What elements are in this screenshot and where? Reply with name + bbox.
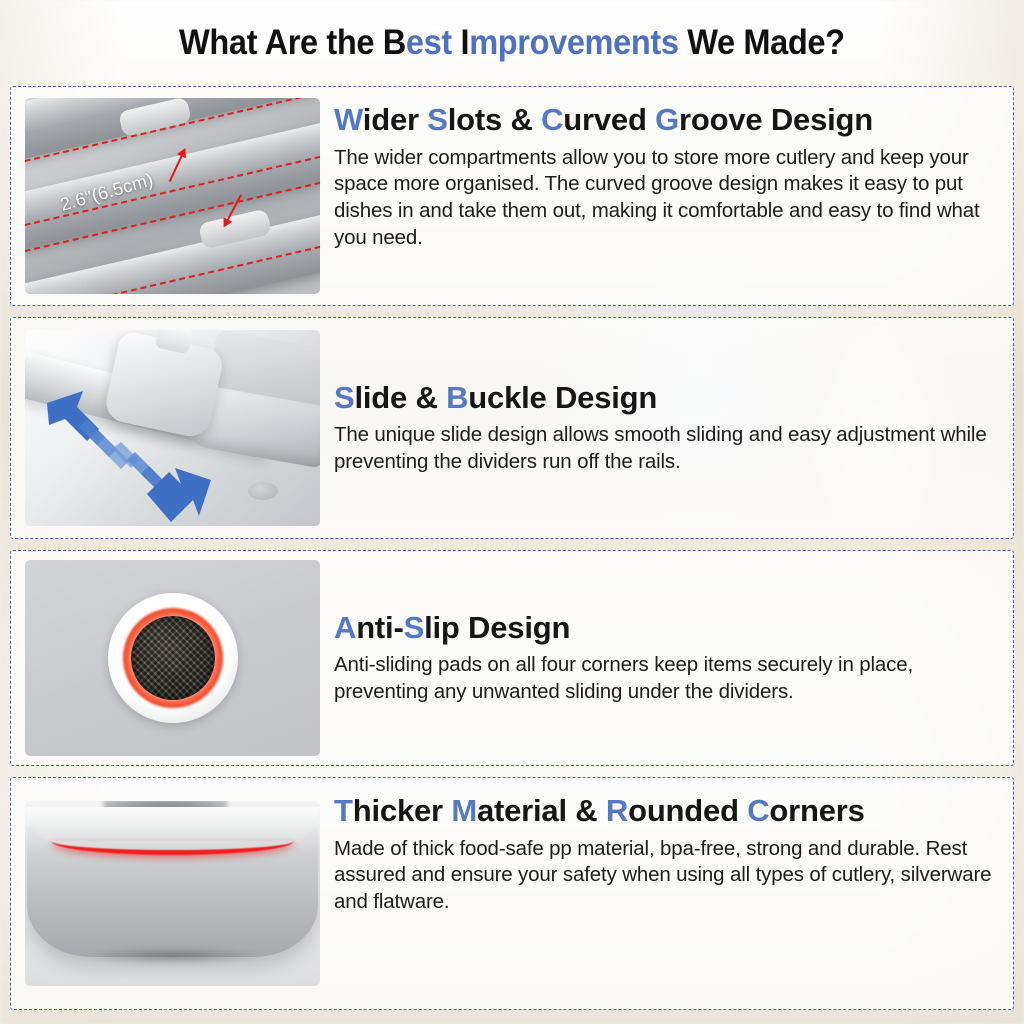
feature-panel-wider-slots: 2.6"(6.5cm) Wider Slots & Curved Groove … <box>10 86 1014 306</box>
rounded-corner-closeup-image <box>25 801 320 986</box>
feature-copy: Wider Slots & Curved Groove Design The w… <box>320 97 1001 295</box>
feature-heading: Anti-Slip Design <box>334 611 1001 646</box>
feature-copy: Slide & Buckle Design The unique slide d… <box>320 328 1001 528</box>
page-title: What Are the Best Improvements We Made? <box>179 23 845 63</box>
tray-drop-shadow <box>85 948 260 964</box>
feature-panel-list: 2.6"(6.5cm) Wider Slots & Curved Groove … <box>0 86 1024 1024</box>
feature-heading: Wider Slots & Curved Groove Design <box>334 103 1001 138</box>
feature-heading: Slide & Buckle Design <box>334 381 1001 416</box>
feature-panel-anti-slip: Anti-Slip Design Anti-sliding pads on al… <box>10 550 1014 766</box>
tray-foot-dot <box>248 482 278 500</box>
feature-panel-slide-buckle: Slide & Buckle Design The unique slide d… <box>10 317 1014 539</box>
feature-body: Made of thick food-safe pp material, bpa… <box>334 836 1001 916</box>
feature-panel-thicker-material: Thicker Material & Rounded Corners Made … <box>10 777 1014 1010</box>
anti-slip-pad-closeup-image <box>25 560 320 756</box>
feature-copy: Thicker Material & Rounded Corners Made … <box>320 788 1001 999</box>
cutlery-tray-slot-closeup-image: 2.6"(6.5cm) <box>25 98 320 294</box>
arrow-down-right-icon <box>103 442 223 526</box>
feature-body: The unique slide design allows smooth sl… <box>334 422 1001 475</box>
feature-copy: Anti-Slip Design Anti-sliding pads on al… <box>320 561 1001 755</box>
feature-body: The wider compartments allow you to stor… <box>334 145 1001 252</box>
pad-textured-core <box>131 616 215 700</box>
feature-heading: Thicker Material & Rounded Corners <box>334 794 1001 829</box>
page-title-bar: What Are the Best Improvements We Made? <box>0 0 1024 86</box>
product-feature-page: What Are the Best Improvements We Made? … <box>0 0 1024 1024</box>
slide-buckle-closeup-image <box>25 330 320 526</box>
feature-body: Anti-sliding pads on all four corners ke… <box>334 652 1001 705</box>
